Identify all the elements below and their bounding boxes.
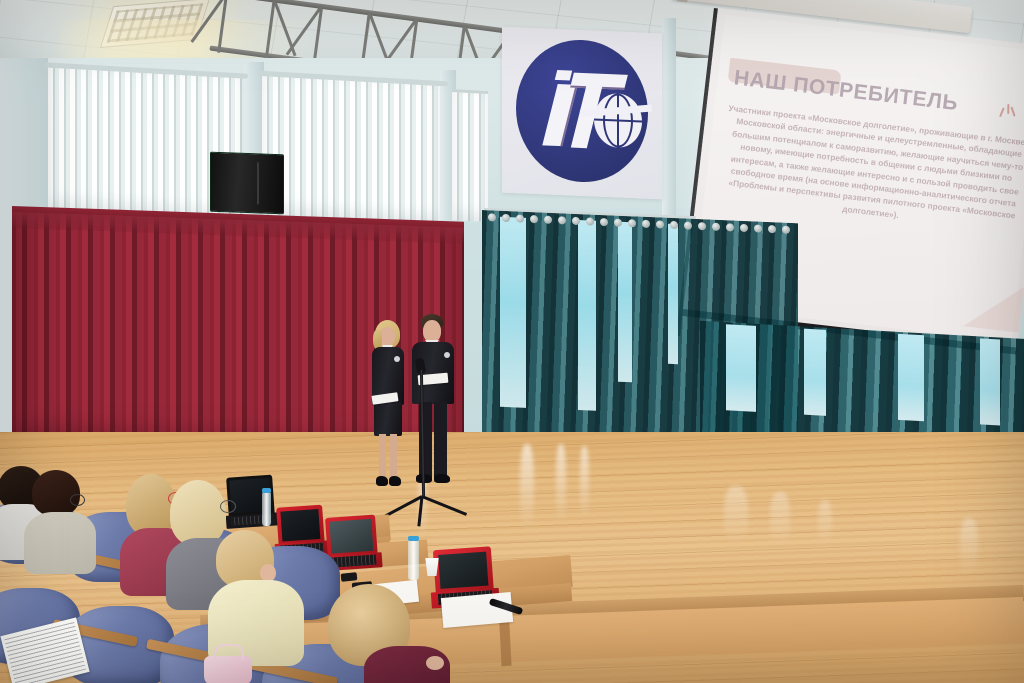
window-light-gap-r1 <box>726 324 756 412</box>
presenter-right-head <box>423 320 441 342</box>
attendee-2-glasses <box>70 494 85 506</box>
curtain-grommet <box>684 221 692 229</box>
floor-reflection-1 <box>520 444 534 530</box>
presenter-left-leg-b <box>390 434 397 478</box>
curtain-grommet <box>488 213 496 221</box>
floor-reflection-7 <box>960 518 978 576</box>
presenter-left-badge <box>394 356 400 362</box>
handbag-handle <box>214 644 244 660</box>
floor-reflection-5 <box>770 492 790 548</box>
curtain-grommet <box>544 216 552 224</box>
presenter-right <box>408 314 460 498</box>
floor-reflection-2 <box>556 444 566 524</box>
curtain-grommet <box>614 219 622 227</box>
window-light-gap-3 <box>618 222 632 383</box>
floor-reflection-4 <box>724 486 748 544</box>
truss-vertical-member <box>217 0 228 53</box>
logo-globe-meridian <box>603 93 633 148</box>
laptop-red-3-screen <box>438 552 488 589</box>
water-bottle-1-cap <box>262 488 271 493</box>
slide-corner-accent <box>963 281 1024 333</box>
slide-sparkle-icon <box>994 103 1023 132</box>
window-light-gap-r3 <box>898 334 924 421</box>
curtain-grommet <box>712 223 720 231</box>
mobile-phone[interactable] <box>341 572 358 582</box>
curtain-grommet <box>600 218 608 226</box>
presenter-right-shoe-b <box>434 474 450 483</box>
ito-logo-banner <box>502 27 662 200</box>
handbag <box>204 656 252 683</box>
wall-pillar-banner-right <box>662 18 676 218</box>
window-light-gap-1 <box>500 217 526 408</box>
curtain-grommet <box>698 222 706 230</box>
curtain-grommet <box>530 215 538 223</box>
loudspeaker-cabinet <box>210 152 284 215</box>
attendee-2-hair <box>32 470 80 516</box>
water-bottle-1 <box>262 492 271 526</box>
curtain-grommet <box>586 217 594 225</box>
window-light-gap-2 <box>578 220 596 411</box>
attendee-6-hand <box>426 656 444 670</box>
water-bottle-2 <box>408 540 419 580</box>
curtain-grommet <box>558 216 566 224</box>
window-light-gap-r2 <box>804 329 826 416</box>
curtain-grommet <box>572 217 580 225</box>
curtain-grommet <box>656 220 664 228</box>
laptop-red-2-screen <box>329 519 373 554</box>
truss-vertical-member <box>265 0 276 59</box>
window-blinds-center <box>262 73 440 224</box>
curtain-grommet <box>502 214 510 222</box>
curtain-grommet <box>782 226 790 234</box>
curtain-grommet <box>628 219 636 227</box>
curtain-grommet <box>740 224 748 232</box>
water-bottle-2-cap <box>408 536 419 541</box>
attendee-2 <box>26 470 92 558</box>
presenter-left-leg-a <box>379 434 386 478</box>
window-light-gap-4 <box>668 224 678 364</box>
window-blinds-right <box>452 89 488 222</box>
presenter-right-leg-b <box>434 402 447 478</box>
logo-letter-i-bar <box>555 70 572 81</box>
curtain-grommet <box>516 214 524 222</box>
curtain-grommet <box>754 224 762 232</box>
presenter-left-skirt <box>374 402 402 436</box>
attendee-5 <box>208 530 294 650</box>
presenter-left-shoe-b <box>389 476 401 486</box>
floor-reflection-6 <box>818 500 832 548</box>
presenter-left-shoe-a <box>376 476 388 486</box>
curtain-grommet <box>642 220 650 228</box>
attendee-2-body <box>24 512 96 574</box>
attendee-4-glasses <box>220 500 236 513</box>
curtain-grommet <box>768 225 776 233</box>
floor-reflection-3 <box>580 446 589 520</box>
logo-globe-icon <box>594 93 642 149</box>
curtain-grommet <box>670 221 678 229</box>
presenter-right-badge <box>444 352 450 358</box>
slide-body-text: Участники проекта «Московское долголетие… <box>718 102 1024 236</box>
ito-logo-circle <box>516 37 648 185</box>
papers-on-table-2 <box>441 592 513 628</box>
curtain-grommet <box>726 223 734 231</box>
attendee-6 <box>318 584 430 683</box>
conference-hall-photo: НАШ ПОТРЕБИТЕЛЬ Участники проекта «Моско… <box>0 0 1024 683</box>
presenter-left <box>366 320 410 496</box>
window-light-gap-r4 <box>980 338 1000 425</box>
